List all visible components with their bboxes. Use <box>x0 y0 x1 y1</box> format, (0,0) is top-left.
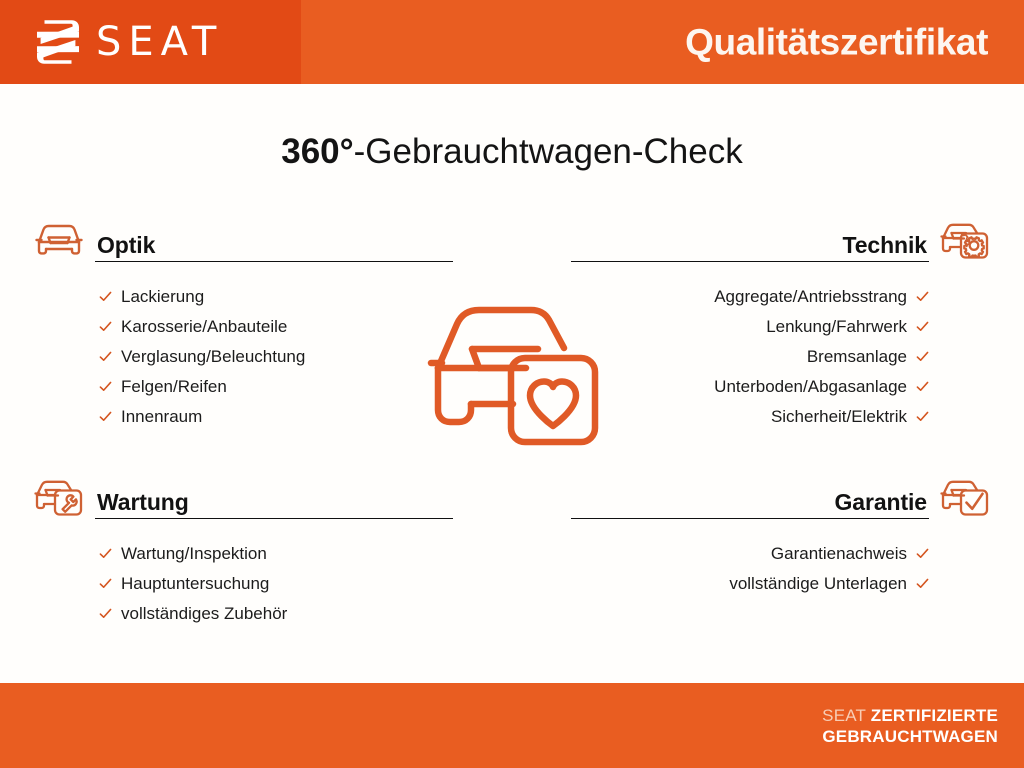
list-item: Lenkung/Fahrwerk <box>571 312 991 342</box>
section-technik-heading-wrap: Technik <box>571 233 929 262</box>
section-optik-list: Lackierung Karosserie/Anbauteile Verglas… <box>33 262 453 432</box>
check-icon <box>916 350 929 363</box>
footer-claim-bold-2: GEBRAUCHTWAGEN <box>822 726 998 747</box>
list-item-label: Hauptuntersuchung <box>121 569 269 599</box>
section-garantie-heading-wrap: Garantie <box>571 490 929 519</box>
section-wartung-heading-wrap: Wartung <box>95 490 453 519</box>
section-technik: Technik Aggregate/Antriebsstrang Lenkung… <box>571 218 991 432</box>
list-item-label: Felgen/Reifen <box>121 372 227 402</box>
section-technik-list: Aggregate/Antriebsstrang Lenkung/Fahrwer… <box>571 262 991 432</box>
list-item-label: Lackierung <box>121 282 204 312</box>
car-wrench-icon <box>33 475 85 519</box>
list-item-label: Karosserie/Anbauteile <box>121 312 287 342</box>
certificate-page: SEAT Qualitätszertifikat 360°-Gebrauchtw… <box>0 0 1024 768</box>
list-item: Unterboden/Abgasanlage <box>571 372 991 402</box>
footer-claim-brand: SEAT <box>822 706 866 725</box>
header-title: Qualitätszertifikat <box>685 24 988 61</box>
car-gear-icon <box>939 218 991 262</box>
car-check-icon <box>939 475 991 519</box>
list-item-label: Sicherheit/Elektrik <box>771 402 907 432</box>
list-item: vollständige Unterlagen <box>571 569 991 599</box>
section-wartung: Wartung Wartung/Inspektion Hauptuntersuc… <box>33 475 453 629</box>
page-title-rest: -Gebrauchtwagen-Check <box>354 132 743 171</box>
car-with-heart-icon <box>418 300 608 470</box>
check-icon <box>99 547 112 560</box>
section-garantie-list: Garantienachweis vollständige Unterlagen <box>571 519 991 599</box>
section-technik-rule <box>571 261 929 262</box>
list-item-label: Garantienachweis <box>771 539 907 569</box>
section-optik-title: Optik <box>95 233 453 261</box>
check-icon <box>916 547 929 560</box>
list-item-label: vollständige Unterlagen <box>729 569 907 599</box>
section-technik-header: Technik <box>571 218 991 262</box>
list-item-label: Unterboden/Abgasanlage <box>714 372 907 402</box>
check-icon <box>99 410 112 423</box>
brand-wordmark: SEAT <box>96 22 223 62</box>
section-optik: Optik Lackierung Karosserie/Anbauteile V… <box>33 218 453 432</box>
section-optik-heading-wrap: Optik <box>95 233 453 262</box>
list-item-label: Lenkung/Fahrwerk <box>766 312 907 342</box>
list-item: Lackierung <box>33 282 453 312</box>
section-garantie-header: Garantie <box>571 475 991 519</box>
page-header: SEAT Qualitätszertifikat <box>0 0 1024 84</box>
list-item-label: Innenraum <box>121 402 202 432</box>
footer-claim-line1: SEAT ZERTIFIZIERTE <box>822 705 998 726</box>
list-item: Wartung/Inspektion <box>33 539 453 569</box>
check-icon <box>916 320 929 333</box>
section-optik-header: Optik <box>33 218 453 262</box>
check-icon <box>99 607 112 620</box>
seat-brand-logo: SEAT <box>36 19 223 65</box>
check-icon <box>99 577 112 590</box>
section-wartung-rule <box>95 518 453 519</box>
list-item-label: Aggregate/Antriebsstrang <box>714 282 907 312</box>
page-title-emphasis: 360° <box>281 132 353 171</box>
seat-s-logo-icon <box>36 19 80 65</box>
list-item: Hauptuntersuchung <box>33 569 453 599</box>
section-wartung-list: Wartung/Inspektion Hauptuntersuchung vol… <box>33 519 453 629</box>
check-icon <box>99 320 112 333</box>
list-item-label: Bremsanlage <box>807 342 907 372</box>
page-title: 360°-Gebrauchtwagen-Check <box>0 133 1024 172</box>
section-technik-title: Technik <box>571 233 929 261</box>
list-item: Sicherheit/Elektrik <box>571 402 991 432</box>
section-garantie: Garantie Garantienachweis vollständige U… <box>571 475 991 599</box>
section-wartung-title: Wartung <box>95 490 453 518</box>
check-icon <box>916 380 929 393</box>
footer-claim: SEAT ZERTIFIZIERTE GEBRAUCHTWAGEN <box>822 705 998 747</box>
footer-claim-bold-1: ZERTIFIZIERTE <box>871 706 998 725</box>
list-item: Verglasung/Beleuchtung <box>33 342 453 372</box>
section-garantie-title: Garantie <box>571 490 929 518</box>
car-front-icon <box>33 218 85 262</box>
check-icon <box>916 290 929 303</box>
list-item: Karosserie/Anbauteile <box>33 312 453 342</box>
list-item: Innenraum <box>33 402 453 432</box>
list-item: Aggregate/Antriebsstrang <box>571 282 991 312</box>
list-item-label: Verglasung/Beleuchtung <box>121 342 305 372</box>
check-icon <box>99 350 112 363</box>
check-icon <box>99 290 112 303</box>
check-icon <box>916 577 929 590</box>
list-item: vollständiges Zubehör <box>33 599 453 629</box>
section-garantie-rule <box>571 518 929 519</box>
list-item: Felgen/Reifen <box>33 372 453 402</box>
section-wartung-header: Wartung <box>33 475 453 519</box>
check-icon <box>916 410 929 423</box>
list-item-label: Wartung/Inspektion <box>121 539 267 569</box>
list-item-label: vollständiges Zubehör <box>121 599 287 629</box>
list-item: Bremsanlage <box>571 342 991 372</box>
check-icon <box>99 380 112 393</box>
list-item: Garantienachweis <box>571 539 991 569</box>
section-optik-rule <box>95 261 453 262</box>
page-footer: SEAT ZERTIFIZIERTE GEBRAUCHTWAGEN <box>0 683 1024 768</box>
